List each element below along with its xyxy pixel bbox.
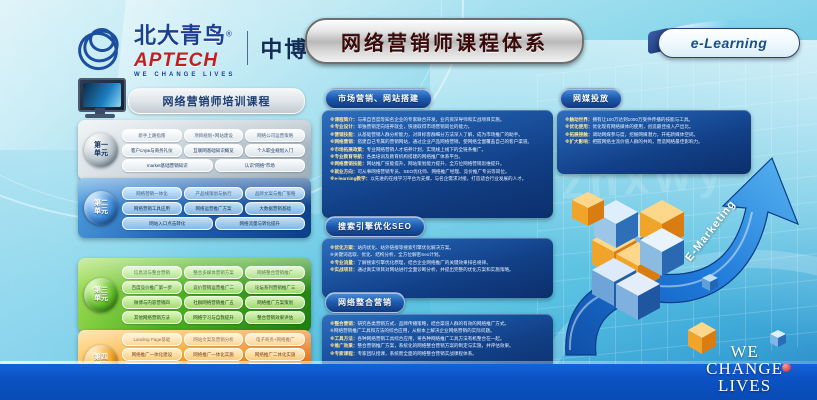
unit-topic-chip[interactable]: 网络营销工具应用 — [122, 202, 182, 215]
section-body-line: ※网络营销：搭建自己专属的营销网站，通过企业产品网络营销，使网络全面覆盖自己的客… — [330, 138, 545, 145]
unit-topic-chip[interactable]: 整合营销效果评估 — [245, 311, 305, 324]
section-heading-integrated-marketing: 网络整合营销 — [325, 292, 405, 313]
unit-badge-1: 第一单元 — [84, 133, 118, 167]
left-panel-title: 网络营销师培训课程 — [163, 93, 271, 109]
computer-monitor-icon — [78, 78, 124, 120]
registered-mark-icon: ® — [226, 30, 232, 39]
unit-topic-chip[interactable]: 网络营销一体化 — [122, 187, 182, 200]
unit-topic-chip[interactable]: 网络学习与自我提升 — [184, 311, 244, 324]
main-title-plate: 网络营销师课程体系 — [305, 18, 584, 64]
brand-lockup: 北大青鸟® APTECH WE CHANGE LIVES 中博 — [78, 18, 308, 78]
unit-topic-chip[interactable]: 整合多媒体营销方案 — [184, 266, 244, 279]
unit-topic-chip[interactable]: Landing Page基础 — [122, 333, 182, 346]
section-body-line: ※优化使用：优化现有网络媒体的使用，创造最佳投入产出比。 — [565, 123, 743, 130]
unit-badge-3: 第三单元 — [84, 278, 118, 312]
unit-topic-grid: 网络营销一体化产品线策划与执行品牌文案与推广策略网络营销工具应用网络运营推广方案… — [122, 187, 307, 230]
section-body-line: ※市场拓展政策：专业网络营销人才培养计划，实现线上线下的全链条推广。 — [330, 146, 545, 153]
emarketing-artwork: E-Marketing — [560, 150, 817, 370]
course-unit-2[interactable]: 第二单元网络营销一体化产品线策划与执行品牌文案与推广策略网络营销工具应用网络运营… — [78, 178, 311, 238]
unit-topic-chip[interactable]: 网络推广二体化实施 — [245, 348, 305, 361]
unit-topic-chip[interactable]: 百度竞价推广第一步 — [122, 281, 182, 294]
brand-tagline: WE CHANGE LIVES — [134, 72, 235, 78]
unit-topic-chip[interactable]: 社群网络营销推广五 — [184, 296, 244, 309]
section-body-seo: ※优化方案：站内优化、站外链接等搜索引擎优化解决方案。※关键词选取、优化、结构分… — [322, 238, 553, 298]
unit-topic-chip[interactable]: 大数据营销基础 — [245, 202, 305, 215]
brand-divider — [247, 31, 248, 65]
unit-topic-chip[interactable]: 信息流与整合营销 — [122, 266, 182, 279]
aptech-bird-logo-icon — [78, 28, 122, 68]
unit-topic-chip[interactable]: 网络公司运营策略 — [245, 129, 305, 142]
section-body-line: ※扩大影响：把握网络主流价值人群的共鸣，营造网络最佳影响力。 — [565, 138, 743, 145]
section-body-market-website: ※课程简介：与来自百度等知名企业的专家联合开发，业内资深导师和实战项目实施。※专… — [322, 110, 553, 218]
section-body-line: ※课程简介：与来自百度等知名企业的专家联合开发，业内资深导师和实战项目实施。 — [330, 116, 545, 123]
poster-canvas: zhxwy 北大青鸟® APTECH WE CHANGE LIVES 中博 网络… — [0, 0, 817, 400]
left-panel-title-plate: 网络营销师培训课程 — [128, 88, 305, 114]
brand-name-cn: 北大青鸟 — [134, 23, 226, 48]
section-body-line: ※关键词选取、优化、结构分析，全方位解密Seo计划。 — [330, 251, 545, 258]
page-title: 网络营销师课程体系 — [341, 27, 548, 56]
section-heading-text: 搜索引擎优化SEO — [338, 221, 412, 232]
brand-text-block: 北大青鸟® APTECH WE CHANGE LIVES — [134, 18, 235, 78]
unit-topic-chip[interactable]: 项目规划+网站建设 — [184, 129, 244, 142]
unit-topic-grid: 新手上路指南项目规划+网站建设网络公司运营策略客户служ与商务礼仪互联网基础知… — [122, 129, 307, 172]
section-body-media-placement: ※触动世界：拥有让100万达到1000万受件传播的技能与工具。※优化使用：优化现… — [557, 110, 751, 174]
brand-partner-name: 中博 — [260, 32, 308, 64]
unit-topic-chip[interactable]: 个人职业规划入门 — [245, 144, 305, 157]
unit-topic-chip[interactable]: 其他网络营销方法 — [122, 311, 182, 324]
unit-topic-chip[interactable]: market基础营销知识 — [122, 159, 213, 172]
section-body-line: ※拓展接触：调动网媒参与度，挖掘网媒潜力，开拓新媒体空间。 — [565, 131, 743, 138]
bottom-bar — [0, 364, 817, 400]
unit-topic-chip[interactable]: 客户служ与商务礼仪 — [122, 144, 182, 157]
course-unit-3[interactable]: 第三单元信息流与整合营销整合多媒体营销方案网络整合营销推广百度竞价推广第一步竞价… — [78, 258, 311, 332]
section-body-line: ※整合营销：研究各类营销方式、品牌传播策略，结合渠道人群的有效的网络推广方式。 — [330, 320, 545, 327]
slogan-line-2: CHANGE — [706, 360, 783, 377]
unit-topic-chip[interactable]: 互联网基础知识概览 — [184, 144, 244, 157]
section-heading-market-website: 市场营销、网站搭建 — [325, 88, 432, 109]
unit-topic-chip[interactable]: 网络运营推广方案 — [184, 202, 244, 215]
slogan-dot-icon — [782, 363, 791, 372]
unit-topic-chip[interactable]: 网络推广一体化建设 — [122, 348, 182, 361]
section-body-line: ※优化方案：站内优化、站外链接等搜索引擎优化解决方案。 — [330, 244, 545, 251]
unit-topic-chip[interactable]: 网络推广一体化实施 — [184, 348, 244, 361]
unit-topic-chip[interactable]: 网络整合营销推广 — [245, 266, 305, 279]
unit-topic-chip[interactable]: 论坛系列营销推广三 — [245, 281, 305, 294]
section-body-line: ※推广效果：整合营销推广方案，系统化的网络整合营销方案的制定与实施，并评估效果。 — [330, 342, 545, 349]
brand-name-en: APTECH — [134, 50, 235, 72]
section-body-line: ※工具方法：各种网络营销工具综合应用，将各种网络推广工具方法有机整合在一起。 — [330, 335, 545, 342]
section-body-line: ※就业方向：可从事网络营销专员、SEO优化师、网络推广经理、竞价推广专员等岗位。 — [330, 168, 545, 175]
unit-topic-chip[interactable]: 产品线策划与执行 — [184, 187, 244, 200]
arrow-label: E-Marketing — [683, 198, 738, 264]
slogan-line-3: LIVES — [706, 377, 783, 394]
section-body-line: ※营销技能：从基础营销人群分析能力，对目标客群细分方法深入了解，成为市场推广的助… — [330, 131, 545, 138]
section-heading-seo: 搜索引擎优化SEO — [325, 216, 425, 237]
unit-topic-chip[interactable]: 网站入口点击转化 — [122, 217, 213, 230]
section-body-line: ※专业流量：了解搜索引擎优化原理，结合企业网络推广的关键效果排名规律。 — [330, 259, 545, 266]
slogan-line-1: WE — [706, 343, 783, 360]
section-body-line: ※触动世界：拥有让100万达到1000万受件传播的技能与工具。 — [565, 116, 743, 123]
section-heading-text: 网媒投放 — [573, 93, 609, 104]
section-body-line: ※网络营销推广工具和方法的综合应用，从根本上解决企业网络营销的实际问题。 — [330, 327, 545, 334]
we-change-lives-slogan: WE CHANGE LIVES — [706, 343, 783, 394]
unit-topic-chip[interactable]: 认识“网络”市场 — [215, 159, 306, 172]
unit-topic-chip[interactable]: 网络流量与转化提升 — [215, 217, 306, 230]
unit-topic-chip[interactable]: 新手上路指南 — [122, 129, 182, 142]
section-heading-media-placement: 网媒投放 — [560, 88, 622, 109]
unit-topic-chip[interactable]: 竞价营销运营推广二 — [184, 281, 244, 294]
elearning-badge: e-Learning — [648, 24, 798, 58]
unit-topic-chip[interactable]: 网站文案及营销分析 — [184, 333, 244, 346]
section-body-line: ※专家课程：专家团队授课，系统而全面的网络整合营销实战课程体系。 — [330, 350, 545, 357]
section-body-line: ※e-learning教学：以先进的在线学习平台为支撑，与名企需求对接，打造适合… — [330, 175, 545, 182]
section-body-line: ※专业教育导航：各类培训及教育机构搭建的网络推广体系平台。 — [330, 153, 545, 160]
unit-topic-chip[interactable]: 微博与内容营销四 — [122, 296, 182, 309]
unit-topic-chip[interactable]: 网络推广方案策划 — [245, 296, 305, 309]
section-body-line: ※专业设计：单独营销定向培养就业，快速取得市场营销岗位的能力。 — [330, 123, 545, 130]
section-heading-text: 网络整合营销 — [338, 297, 392, 308]
unit-topic-grid: 信息流与整合营销整合多媒体营销方案网络整合营销推广百度竞价推广第一步竞价营销运营… — [122, 266, 307, 324]
unit-badge-2: 第二单元 — [84, 191, 118, 225]
section-body-line: ※实战项目：通过真实项目对网站进行全面诊断分析，并提出完整的优化方案和实施策略。 — [330, 266, 545, 273]
unit-topic-chip[interactable]: 电子商务+网络推广 — [245, 333, 305, 346]
elearning-plate: e-Learning — [658, 28, 800, 58]
elearning-label: e-Learning — [691, 35, 768, 51]
section-heading-text: 市场营销、网站搭建 — [338, 93, 419, 104]
course-unit-1[interactable]: 第一单元新手上路指南项目规划+网站建设网络公司运营策略客户служ与商务礼仪互联… — [78, 120, 311, 180]
section-body-line: ※网络营销技能：网站推广技能提升，网站策划能力提升，全方位网络营销思维提升。 — [330, 160, 545, 167]
unit-topic-chip[interactable]: 品牌文案与推广策略 — [245, 187, 305, 200]
